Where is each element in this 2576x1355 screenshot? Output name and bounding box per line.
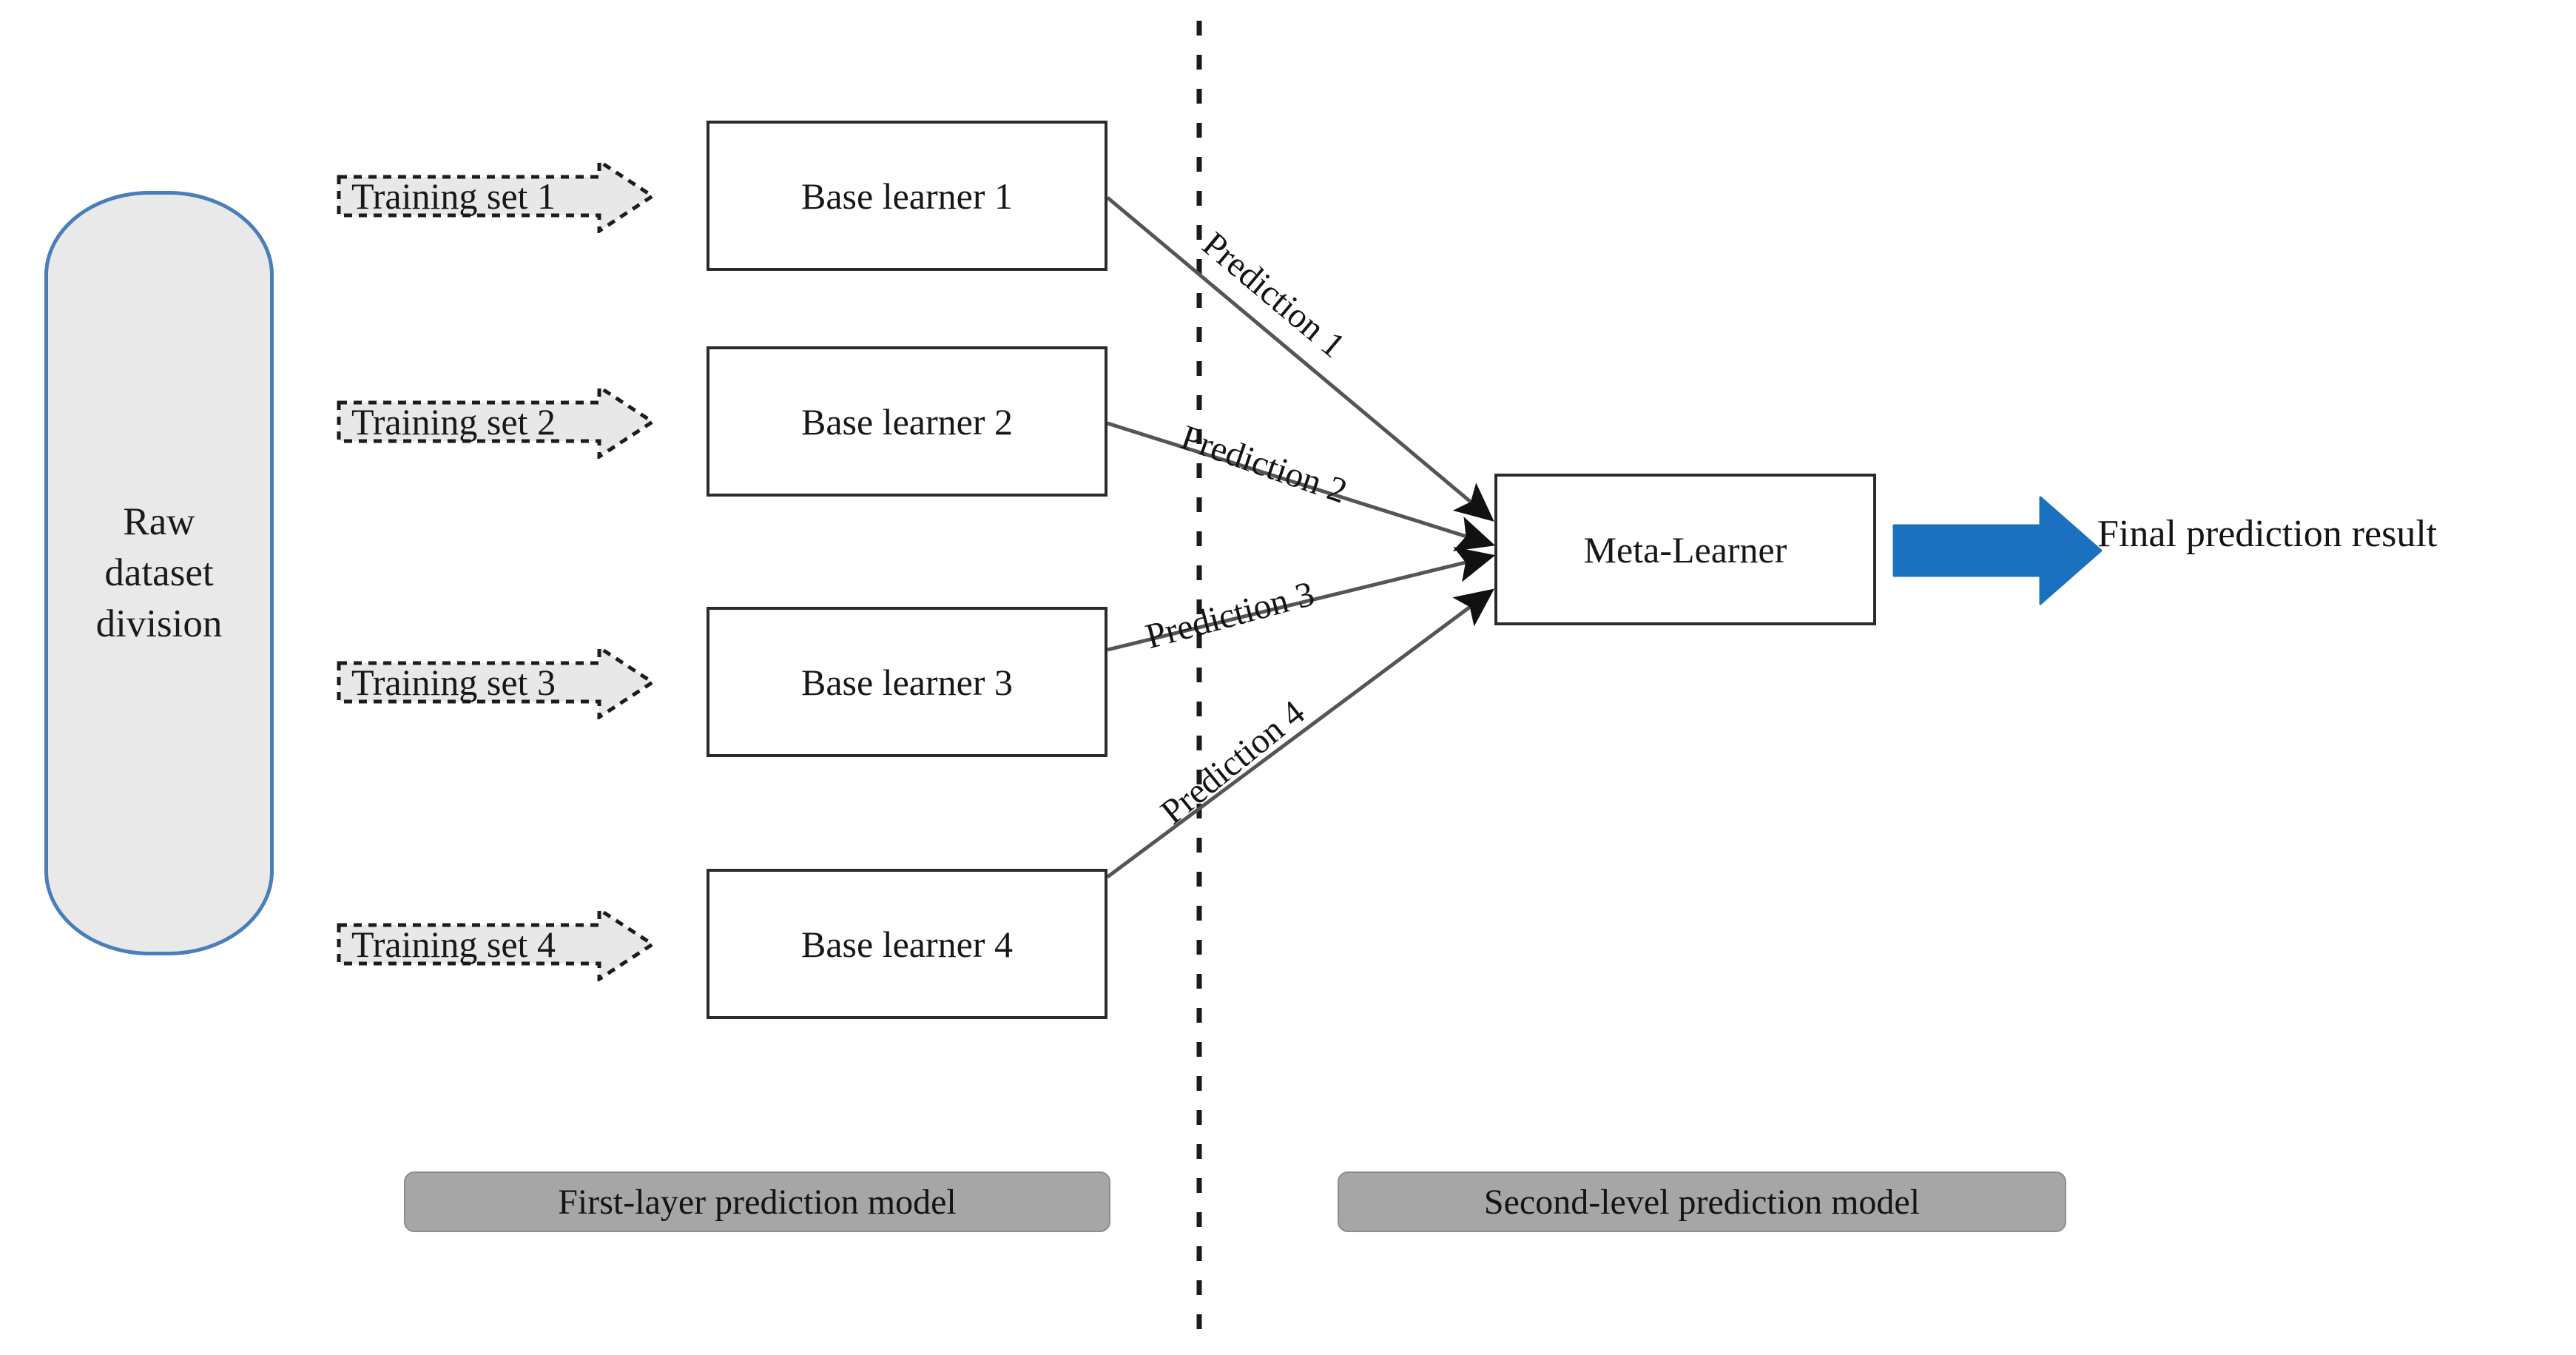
raw-dataset-label-line3: division <box>96 599 223 650</box>
base-learner-box-3[interactable]: Base learner 3 <box>707 607 1107 757</box>
training-set-arrow-3: Training set 3 <box>337 645 655 719</box>
meta-learner-box[interactable]: Meta-Learner <box>1494 474 1876 625</box>
training-set-arrow-1: Training set 1 <box>337 159 655 233</box>
base-learner-label: Base learner 1 <box>801 175 1013 218</box>
training-set-arrow-2: Training set 2 <box>337 385 655 459</box>
stage-caption-first-layer-label: First-layer prediction model <box>558 1182 957 1223</box>
figure-canvas: Raw dataset division Training set 1 Trai… <box>0 0 2576 1355</box>
stage-caption-first-layer: First-layer prediction model <box>404 1171 1110 1232</box>
training-set-arrow-4: Training set 4 <box>337 907 655 981</box>
training-set-label: Training set 4 <box>351 926 670 963</box>
training-set-label: Training set 2 <box>351 403 670 440</box>
base-learner-label: Base learner 2 <box>801 400 1013 443</box>
prediction-label-1: Prediction 1 <box>1196 226 1352 365</box>
meta-learner-label: Meta-Learner <box>1584 528 1787 571</box>
raw-dataset-label-line1: Raw <box>96 497 223 548</box>
final-output-arrow <box>1894 497 2101 604</box>
base-learner-box-2[interactable]: Base learner 2 <box>707 346 1107 497</box>
base-learner-box-4[interactable]: Base learner 4 <box>707 869 1107 1019</box>
base-learner-box-1[interactable]: Base learner 1 <box>707 121 1107 271</box>
raw-dataset-label-line2: dataset <box>96 548 223 599</box>
training-set-label: Training set 1 <box>351 178 670 215</box>
raw-dataset-label: Raw dataset division <box>96 497 223 650</box>
base-learner-label: Base learner 3 <box>801 661 1013 704</box>
prediction-label-4: Prediction 4 <box>1155 695 1312 831</box>
base-learner-label: Base learner 4 <box>801 923 1013 966</box>
final-prediction-result-label: Final prediction result <box>2097 515 2437 554</box>
stage-caption-second-level: Second-level prediction model <box>1338 1171 2066 1232</box>
stage-caption-second-level-label: Second-level prediction model <box>1484 1182 1920 1223</box>
raw-dataset-shape: Raw dataset division <box>44 191 274 955</box>
prediction-label-3: Prediction 3 <box>1142 576 1318 655</box>
prediction-label-2: Prediction 2 <box>1176 420 1351 509</box>
training-set-label: Training set 3 <box>351 664 670 701</box>
